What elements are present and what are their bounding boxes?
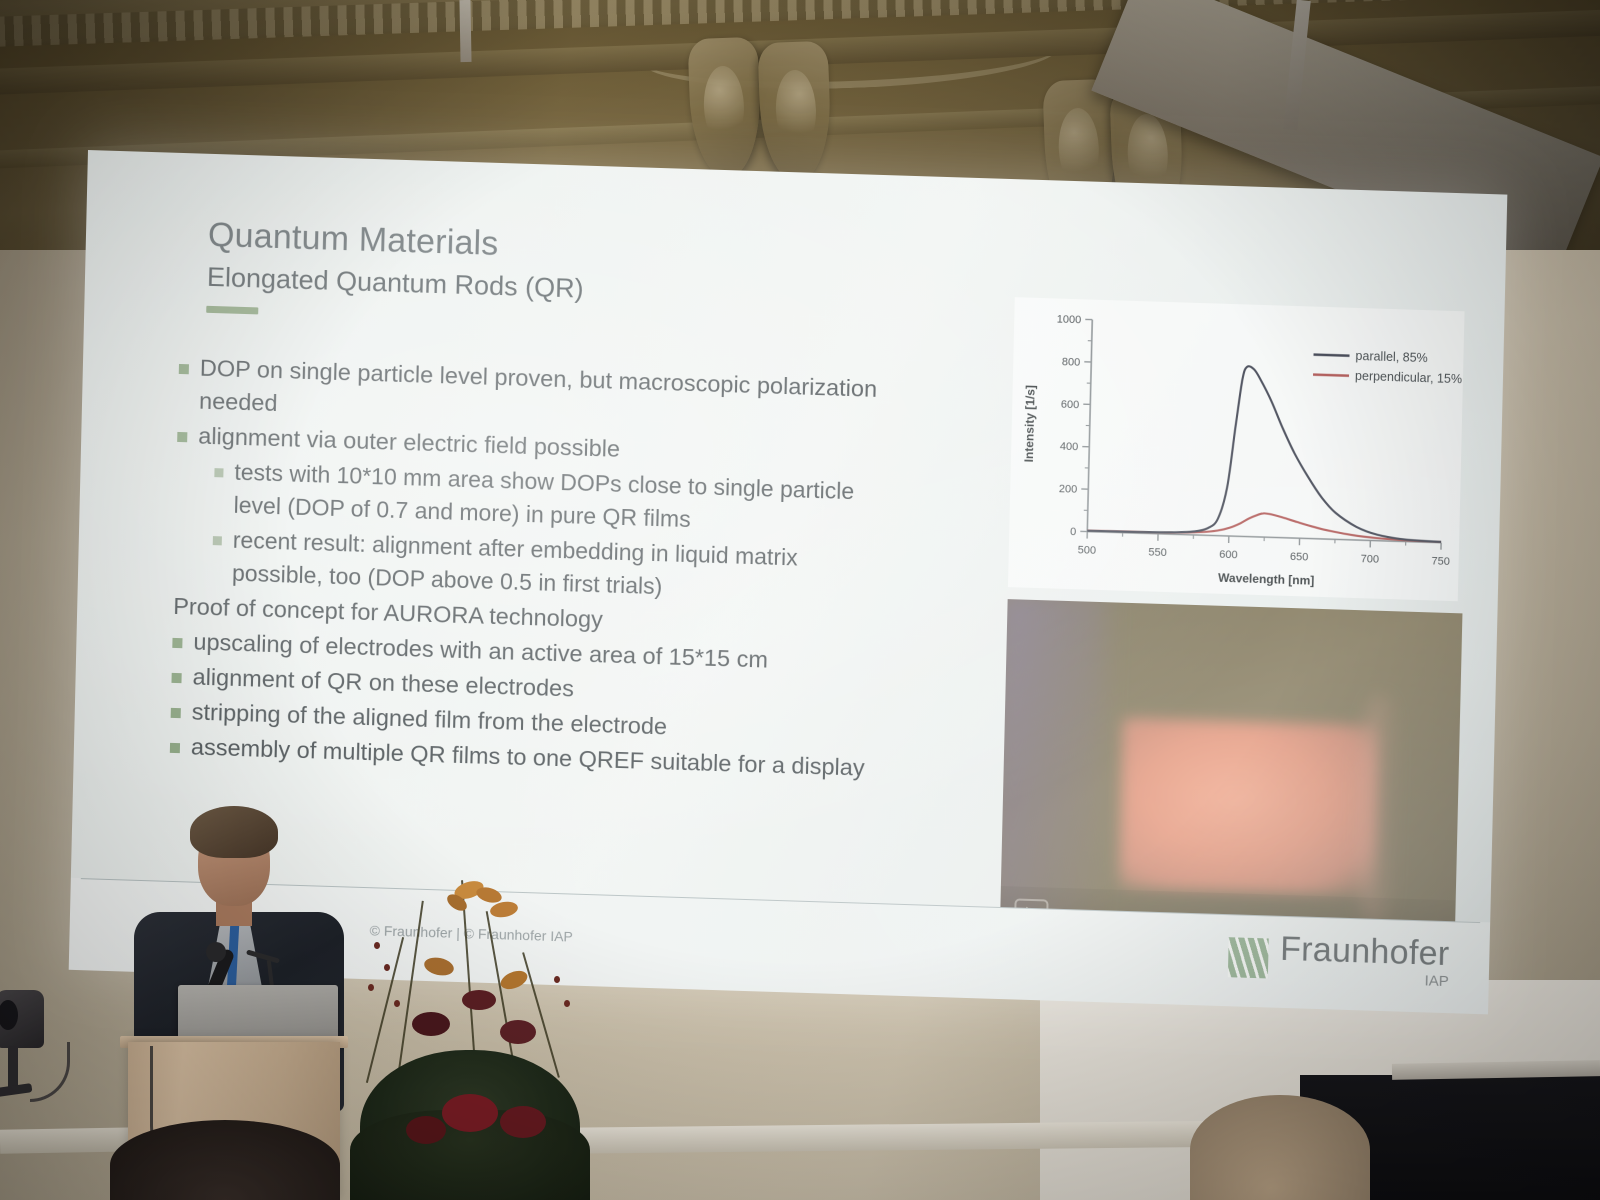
svg-text:800: 800 [1062, 356, 1081, 369]
dahlia-bloom [412, 1012, 450, 1036]
presenter-hair [190, 806, 278, 858]
video-sample-glow [1119, 718, 1378, 896]
dahlia-bloom [500, 1020, 536, 1044]
svg-text:perpendicular, 15%: perpendicular, 15% [1355, 369, 1462, 386]
bullet-marker [170, 743, 180, 753]
fraunhofer-wordmark: Fraunhofer [1280, 932, 1450, 971]
bullet-marker [177, 432, 187, 442]
bullet-marker [213, 536, 222, 545]
flower-stem [398, 901, 424, 1070]
camera-arm [0, 1083, 32, 1098]
svg-text:0: 0 [1070, 526, 1076, 538]
berry [368, 984, 374, 991]
svg-text:400: 400 [1060, 441, 1079, 454]
embedded-video[interactable] [1000, 599, 1463, 958]
microphone-head [206, 942, 226, 962]
flower-arrangement [350, 880, 590, 1200]
fraunhofer-logo: Fraunhofer IAP [1227, 930, 1449, 990]
title-accent-rule [206, 306, 258, 315]
series-parallel [1087, 361, 1445, 542]
slide-subtitle: Elongated Quantum Rods (QR) [207, 262, 584, 305]
spectrum-chart: 02004006008001000 500550600650700750 par… [1008, 297, 1465, 601]
svg-text:Intensity [1/s]: Intensity [1/s] [1022, 385, 1038, 463]
lily-petal [423, 955, 456, 978]
svg-text:550: 550 [1148, 546, 1167, 559]
svg-text:700: 700 [1361, 553, 1380, 566]
fraunhofer-mark-icon [1228, 937, 1269, 978]
bullet-marker [214, 468, 223, 477]
conference-room-scene: Quantum Materials Elongated Quantum Rods… [0, 0, 1600, 1200]
svg-text:600: 600 [1219, 549, 1238, 562]
dahlia-bloom [406, 1116, 446, 1144]
video-camera [0, 990, 66, 1110]
svg-text:500: 500 [1078, 544, 1097, 557]
berry [394, 1000, 400, 1007]
berry [374, 942, 380, 949]
svg-text:650: 650 [1290, 551, 1309, 564]
slide-bullet-list: DOP on single particle level proven, but… [170, 351, 899, 788]
chart-svg: 02004006008001000 500550600650700750 par… [1008, 297, 1465, 601]
camera-cable [30, 1042, 70, 1102]
berry [554, 976, 560, 983]
svg-text:200: 200 [1059, 483, 1078, 496]
audience-member-head [1190, 1095, 1370, 1200]
berry [564, 1000, 570, 1007]
svg-text:1000: 1000 [1057, 314, 1082, 327]
svg-text:600: 600 [1061, 398, 1080, 411]
bullet-marker [172, 638, 182, 648]
audience-member-head [110, 1120, 340, 1200]
bullet-marker [179, 364, 189, 374]
bullet-marker [171, 708, 181, 718]
flower-stem [522, 952, 560, 1078]
dahlia-bloom [442, 1094, 498, 1132]
lily-petal [498, 967, 530, 992]
svg-text:Wavelength [nm]: Wavelength [nm] [1218, 571, 1315, 588]
svg-text:parallel, 85%: parallel, 85% [1355, 349, 1428, 365]
svg-text:750: 750 [1431, 555, 1450, 568]
dahlia-bloom [500, 1106, 546, 1138]
bullet-marker [171, 673, 181, 683]
video-sample-edge [1355, 695, 1402, 926]
dahlia-bloom [462, 990, 496, 1010]
slide-title: Quantum Materials [208, 216, 499, 264]
berry [384, 964, 390, 971]
